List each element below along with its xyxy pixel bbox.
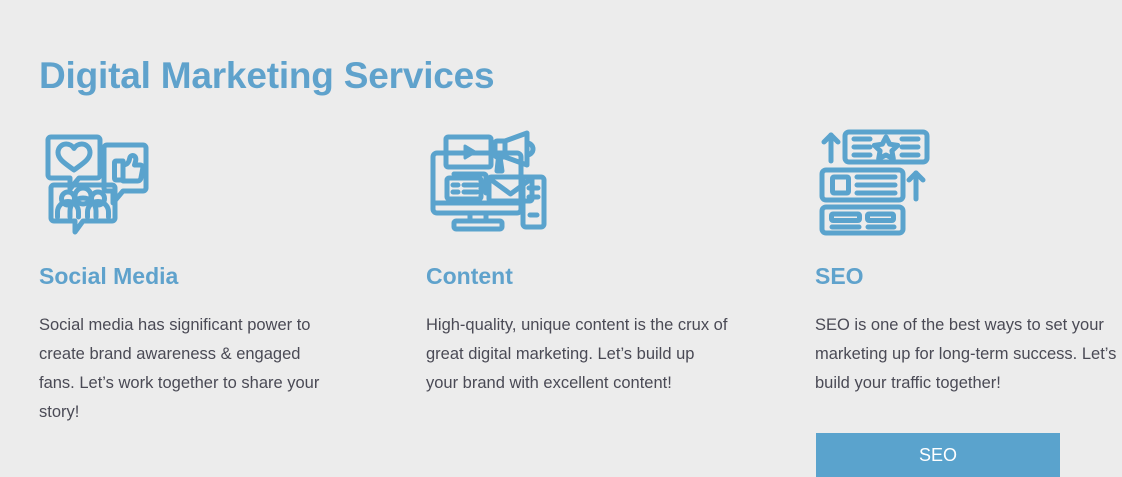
page-title: Digital Marketing Services bbox=[39, 52, 494, 100]
digital-marketing-services-section: Digital Marketing Services bbox=[0, 0, 1122, 459]
service-title-social-media: Social Media bbox=[39, 261, 340, 291]
seo-icon bbox=[815, 125, 1122, 237]
service-card-social-media: Social Media Social media has significan… bbox=[0, 125, 388, 427]
service-card-seo: SEO SEO is one of the best ways to set y… bbox=[777, 125, 1122, 398]
service-title-content: Content bbox=[426, 261, 729, 291]
content-icon bbox=[426, 125, 729, 237]
social-media-icon bbox=[39, 125, 340, 237]
seo-cta-button[interactable]: SEO bbox=[816, 433, 1060, 477]
service-body-content: High-quality, unique content is the crux… bbox=[426, 311, 729, 398]
seo-cta-wrapper: SEO bbox=[816, 433, 1060, 477]
service-body-social-media: Social media has significant power to cr… bbox=[39, 311, 340, 427]
service-body-seo: SEO is one of the best ways to set your … bbox=[815, 311, 1122, 398]
service-title-seo: SEO bbox=[815, 261, 1122, 291]
service-card-content: Content High-quality, unique content is … bbox=[388, 125, 777, 398]
services-columns: Social Media Social media has significan… bbox=[0, 125, 1122, 427]
